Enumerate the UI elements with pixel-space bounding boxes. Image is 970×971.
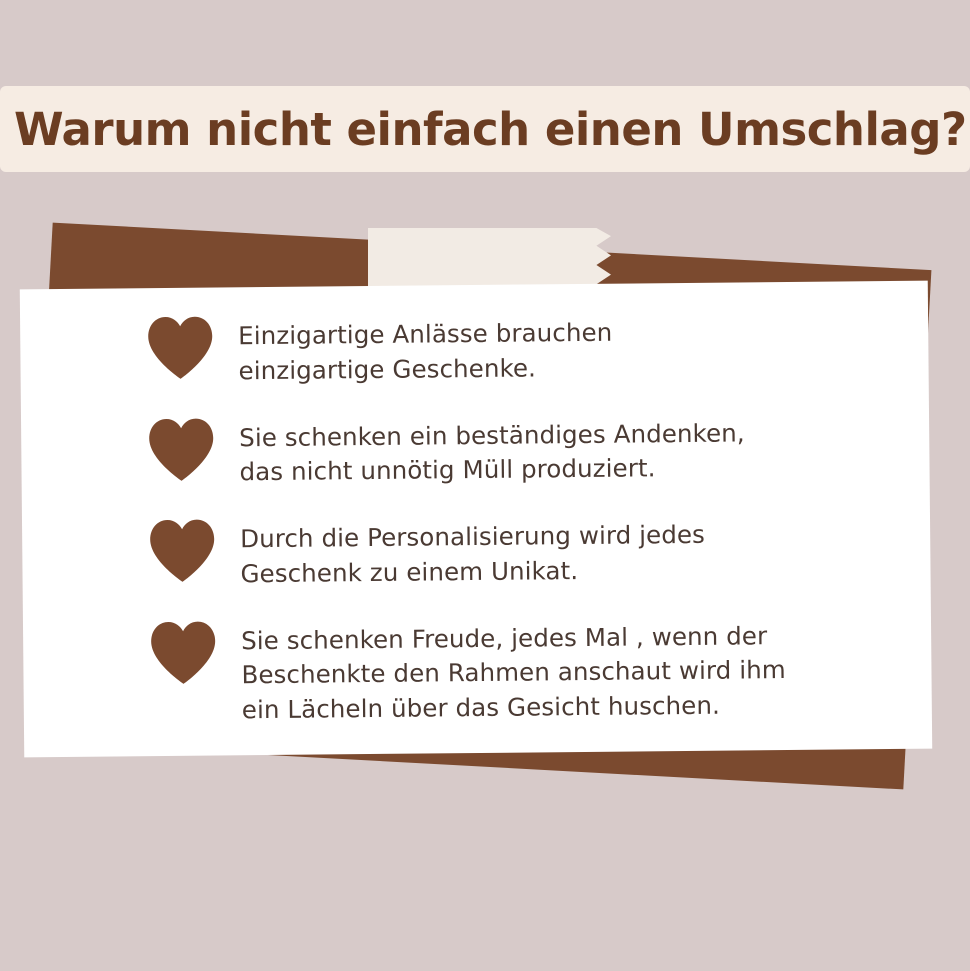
heart-icon [148,519,217,584]
bullet-list: Einzigartige Anlässe brauchen einzigarti… [146,307,912,746]
list-item-text: Durch die Personalisierung wird jedes Ge… [240,512,706,592]
heart-icon [149,620,218,685]
heart-icon [147,417,216,482]
heart-icon [146,316,215,381]
poster-canvas: Warum nicht einfach einen Umschlag? Einz… [0,0,970,971]
list-item: Einzigartige Anlässe brauchen einzigarti… [146,307,909,390]
list-item-text: Sie schenken ein beständiges Andenken, d… [239,410,745,490]
list-item-text: Sie schenken Freude, jedes Mal , wenn de… [241,613,786,729]
content-card: Einzigartige Anlässe brauchen einzigarti… [20,281,932,758]
list-item: Sie schenken Freude, jedes Mal , wenn de… [149,612,912,730]
title-banner: Warum nicht einfach einen Umschlag? [0,86,970,172]
page-title: Warum nicht einfach einen Umschlag? [14,107,967,152]
list-item-text: Einzigartige Anlässe brauchen einzigarti… [238,310,613,389]
list-item: Sie schenken ein beständiges Andenken, d… [147,408,910,491]
list-item: Durch die Personalisierung wird jedes Ge… [148,510,911,593]
